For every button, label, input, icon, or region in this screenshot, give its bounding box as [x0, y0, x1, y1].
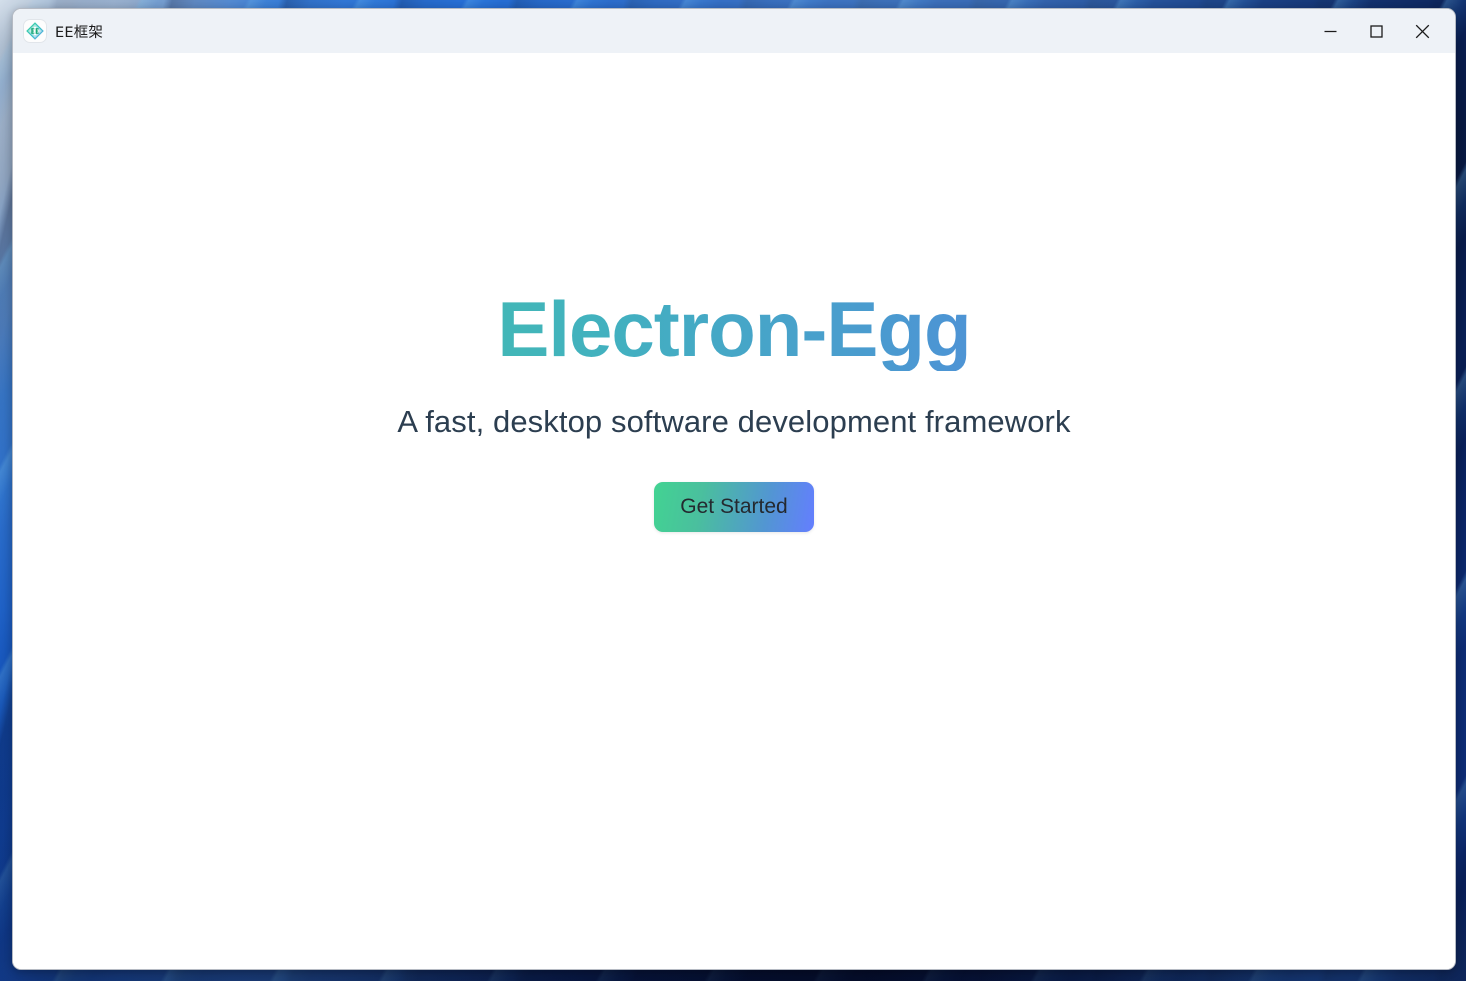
close-icon — [1415, 24, 1430, 39]
page-subtitle: A fast, desktop software development fra… — [13, 404, 1455, 440]
window-title: EE框架 — [55, 21, 103, 42]
close-button[interactable] — [1399, 9, 1445, 53]
get-started-button[interactable]: Get Started — [654, 482, 813, 532]
ee-app-icon — [24, 20, 46, 42]
cta-container: Get Started — [13, 482, 1455, 532]
title-bar-left-group: EE框架 — [13, 20, 103, 42]
page-content: Electron-Egg A fast, desktop software de… — [13, 53, 1455, 969]
application-window: EE框架 — [12, 8, 1456, 970]
window-controls — [1307, 9, 1455, 53]
page-title: Electron-Egg — [13, 289, 1455, 371]
hero-section: Electron-Egg A fast, desktop software de… — [13, 289, 1455, 532]
maximize-icon — [1370, 25, 1383, 38]
maximize-button[interactable] — [1353, 9, 1399, 53]
desktop-background: EE框架 — [0, 0, 1466, 981]
minimize-button[interactable] — [1307, 9, 1353, 53]
title-bar[interactable]: EE框架 — [13, 9, 1455, 53]
minimize-icon — [1324, 25, 1337, 38]
